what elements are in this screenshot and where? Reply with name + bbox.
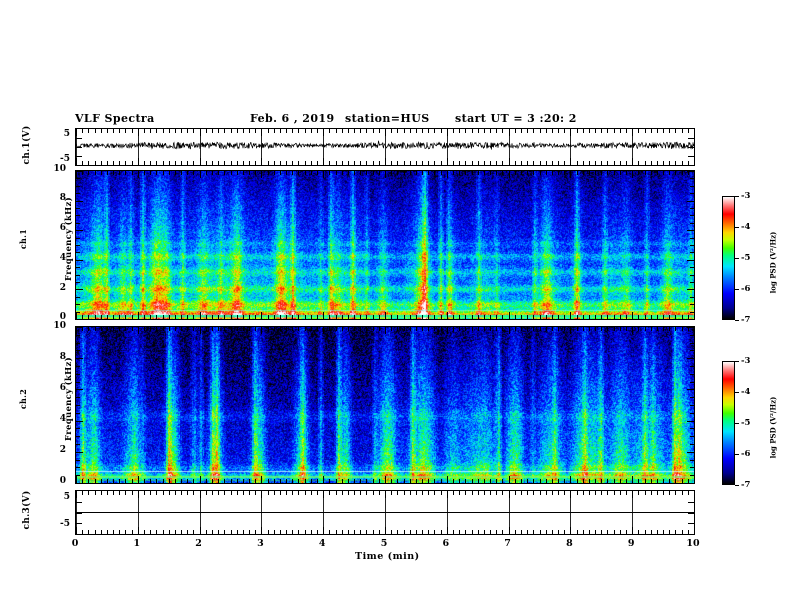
x-gridline — [200, 129, 201, 165]
x-tick — [107, 161, 108, 165]
y-tick — [687, 389, 694, 390]
x-tick — [237, 171, 238, 175]
x-tick — [348, 491, 349, 495]
x-tick — [323, 476, 324, 483]
x-tick — [268, 530, 269, 534]
x-tick — [583, 479, 584, 483]
x-gridline — [200, 491, 201, 534]
x-tick — [193, 530, 194, 534]
x-gridline — [570, 491, 571, 534]
x-tick — [552, 479, 553, 483]
x-tick — [354, 479, 355, 483]
x-tick — [607, 161, 608, 165]
ch3-waveform-ytick-neg5: -5 — [44, 519, 70, 529]
x-tick — [552, 315, 553, 319]
x-tick-label-7: 7 — [498, 538, 518, 549]
y-tick — [688, 147, 694, 148]
x-tick — [366, 315, 367, 319]
x-tick — [95, 129, 96, 133]
x-tick — [577, 327, 578, 331]
x-tick — [527, 171, 528, 175]
x-gridline — [447, 129, 448, 165]
x-tick — [620, 161, 621, 165]
x-tick — [138, 327, 139, 334]
x-tick — [589, 530, 590, 534]
x-tick — [311, 491, 312, 495]
x-tick — [527, 530, 528, 534]
x-gridline — [261, 129, 262, 165]
x-tick — [286, 479, 287, 483]
x-tick — [237, 530, 238, 534]
x-tick — [274, 161, 275, 165]
y-tick — [690, 245, 694, 246]
x-tick — [410, 327, 411, 331]
x-tick — [132, 171, 133, 175]
x-tick — [373, 530, 374, 534]
y-tick — [690, 460, 694, 461]
x-tick — [391, 161, 392, 165]
x-tick — [218, 171, 219, 175]
x-tick — [113, 171, 114, 175]
x-tick — [237, 129, 238, 133]
x-tick — [150, 315, 151, 319]
x-tick — [675, 491, 676, 495]
x-tick — [336, 530, 337, 534]
x-tick — [502, 129, 503, 133]
x-tick — [156, 171, 157, 175]
x-tick — [231, 171, 232, 175]
x-tick — [255, 530, 256, 534]
x-tick — [620, 315, 621, 319]
x-tick — [280, 171, 281, 175]
x-tick — [490, 479, 491, 483]
x-tick — [502, 530, 503, 534]
x-tick — [144, 161, 145, 165]
x-tick — [509, 312, 510, 319]
x-tick — [125, 479, 126, 483]
x-tick — [397, 129, 398, 133]
x-tick — [472, 479, 473, 483]
x-tick — [675, 129, 676, 133]
x-tick — [552, 530, 553, 534]
x-tick — [150, 161, 151, 165]
x-tick — [212, 479, 213, 483]
x-tick — [305, 491, 306, 495]
x-tick — [657, 479, 658, 483]
x-tick — [336, 129, 337, 133]
x-tick — [441, 491, 442, 495]
x-tick — [360, 315, 361, 319]
x-tick — [119, 491, 120, 495]
x-tick — [428, 129, 429, 133]
x-tick — [645, 491, 646, 495]
x-tick — [379, 171, 380, 175]
x-tick — [156, 315, 157, 319]
x-tick — [651, 315, 652, 319]
x-tick — [663, 171, 664, 175]
y-tick — [76, 178, 80, 179]
x-tick — [323, 312, 324, 319]
ch1-spec-ytick-10: 10 — [40, 164, 66, 174]
x-tick — [82, 129, 83, 133]
x-tick — [249, 315, 250, 319]
x-tick — [231, 315, 232, 319]
x-tick — [138, 171, 139, 178]
x-tick — [329, 530, 330, 534]
x-tick — [509, 171, 510, 178]
x-tick — [626, 479, 627, 483]
x-tick — [243, 315, 244, 319]
x-tick — [212, 315, 213, 319]
x-tick — [342, 327, 343, 331]
x-tick — [558, 327, 559, 331]
x-tick — [292, 161, 293, 165]
x-tick — [626, 327, 627, 331]
x-tick — [354, 491, 355, 495]
x-tick — [515, 129, 516, 133]
x-tick — [286, 171, 287, 175]
x-tick — [231, 530, 232, 534]
x-tick — [193, 129, 194, 133]
x-tick — [509, 327, 510, 334]
colorbar-ch1 — [722, 196, 735, 320]
x-tick — [638, 530, 639, 534]
x-tick — [496, 530, 497, 534]
x-tick — [268, 479, 269, 483]
x-tick — [187, 491, 188, 495]
x-tick — [95, 327, 96, 331]
x-tick — [360, 171, 361, 175]
x-tick — [459, 315, 460, 319]
x-tick — [478, 479, 479, 483]
x-tick — [577, 491, 578, 495]
x-tick — [156, 479, 157, 483]
x-tick — [298, 491, 299, 495]
ch3-waveform-ytick-5: 5 — [44, 492, 70, 502]
x-tick — [465, 129, 466, 133]
x-tick — [669, 315, 670, 319]
x-tick — [391, 315, 392, 319]
x-tick — [391, 129, 392, 133]
x-tick — [237, 479, 238, 483]
x-tick — [150, 129, 151, 133]
x-tick — [317, 479, 318, 483]
x-tick — [360, 129, 361, 133]
y-tick — [76, 405, 80, 406]
x-tick — [125, 315, 126, 319]
x-tick — [348, 161, 349, 165]
x-tick — [329, 479, 330, 483]
ch2-spectrogram-canvas — [76, 327, 694, 483]
x-tick — [533, 479, 534, 483]
x-tick — [163, 161, 164, 165]
x-tick — [360, 327, 361, 331]
x-tick — [82, 161, 83, 165]
x-tick — [119, 161, 120, 165]
x-tick — [373, 479, 374, 483]
x-tick — [472, 129, 473, 133]
x-tick — [342, 479, 343, 483]
x-tick — [163, 327, 164, 331]
x-tick — [540, 129, 541, 133]
y-tick — [76, 297, 80, 298]
x-tick — [434, 479, 435, 483]
colorbar-tick-label-neg4: -4 — [741, 222, 750, 232]
x-tick-label-4: 4 — [312, 538, 332, 549]
x-tick — [163, 491, 164, 495]
x-tick — [88, 327, 89, 331]
x-tick — [428, 479, 429, 483]
colorbar-tick — [735, 227, 739, 228]
x-tick — [527, 315, 528, 319]
x-tick — [546, 327, 547, 331]
x-tick — [595, 491, 596, 495]
x-tick — [564, 161, 565, 165]
x-tick — [552, 327, 553, 331]
x-tick — [521, 530, 522, 534]
colorbar-tick — [735, 423, 739, 424]
x-tick — [675, 327, 676, 331]
x-tick — [638, 161, 639, 165]
x-tick-label-8: 8 — [559, 538, 579, 549]
x-tick — [675, 315, 676, 319]
x-tick — [206, 491, 207, 495]
x-tick-label-2: 2 — [189, 538, 209, 549]
x-tick — [447, 476, 448, 483]
x-gridline — [447, 491, 448, 534]
x-tick — [144, 479, 145, 483]
x-tick-label-3: 3 — [250, 538, 270, 549]
x-tick — [274, 530, 275, 534]
ch1-spec-ytick-6: 6 — [40, 223, 66, 233]
y-tick — [76, 275, 80, 276]
x-tick — [150, 491, 151, 495]
x-tick — [298, 171, 299, 175]
x-tick — [132, 530, 133, 534]
x-tick — [583, 530, 584, 534]
x-tick — [163, 479, 164, 483]
y-tick — [76, 358, 83, 359]
colorbar-tick-label-neg7: -7 — [741, 480, 750, 490]
x-tick — [206, 530, 207, 534]
x-tick — [255, 491, 256, 495]
x-tick — [607, 530, 608, 534]
x-tick — [416, 327, 417, 331]
x-tick — [453, 491, 454, 495]
x-tick — [305, 315, 306, 319]
x-tick — [107, 171, 108, 175]
x-tick — [181, 327, 182, 331]
x-tick — [354, 530, 355, 534]
x-tick — [589, 479, 590, 483]
x-tick — [231, 479, 232, 483]
x-tick — [261, 171, 262, 178]
y-tick — [690, 467, 694, 468]
x-tick — [329, 129, 330, 133]
x-tick — [441, 530, 442, 534]
x-tick — [428, 171, 429, 175]
x-tick — [268, 161, 269, 165]
x-tick — [298, 479, 299, 483]
x-tick — [181, 530, 182, 534]
x-tick — [348, 315, 349, 319]
x-tick — [515, 171, 516, 175]
x-tick — [484, 327, 485, 331]
x-tick — [286, 530, 287, 534]
y-tick — [76, 238, 80, 239]
x-tick — [348, 129, 349, 133]
x-gridline — [138, 491, 139, 534]
x-tick — [119, 129, 120, 133]
x-tick — [144, 171, 145, 175]
y-tick — [690, 297, 694, 298]
x-tick — [397, 315, 398, 319]
x-tick — [397, 530, 398, 534]
colorbar-tick — [735, 258, 739, 259]
x-tick — [311, 171, 312, 175]
colorbar-ch1-label: log PSD (V²/Hz) — [769, 208, 778, 318]
x-tick — [298, 315, 299, 319]
x-tick — [416, 129, 417, 133]
x-tick — [317, 491, 318, 495]
x-tick — [521, 171, 522, 175]
x-tick — [163, 171, 164, 175]
x-tick — [546, 171, 547, 175]
x-tick — [193, 479, 194, 483]
x-tick — [620, 171, 621, 175]
x-tick — [255, 129, 256, 133]
y-tick — [76, 335, 80, 336]
x-tick — [280, 161, 281, 165]
x-tick — [175, 161, 176, 165]
x-tick — [305, 327, 306, 331]
x-tick — [533, 530, 534, 534]
x-tick — [286, 491, 287, 495]
y-tick — [76, 467, 80, 468]
x-tick — [434, 161, 435, 165]
x-tick — [404, 530, 405, 534]
x-tick — [76, 327, 77, 334]
ch1-waveform-axis-label: ch.1(V) — [22, 115, 32, 175]
x-tick — [682, 327, 683, 331]
y-tick — [690, 304, 694, 305]
x-tick-label-10: 10 — [683, 538, 703, 549]
x-tick — [243, 479, 244, 483]
x-tick — [688, 161, 689, 165]
colorbar-tick — [735, 454, 739, 455]
x-tick — [298, 161, 299, 165]
x-tick — [218, 479, 219, 483]
y-tick — [690, 335, 694, 336]
x-tick — [484, 171, 485, 175]
colorbar-tick — [735, 485, 739, 486]
y-tick — [690, 223, 694, 224]
x-tick — [595, 479, 596, 483]
y-tick — [76, 502, 82, 503]
x-tick — [125, 530, 126, 534]
x-tick — [410, 171, 411, 175]
colorbar-tick-label-neg7: -7 — [741, 315, 750, 325]
x-tick — [286, 129, 287, 133]
x-tick — [416, 315, 417, 319]
x-tick — [286, 161, 287, 165]
x-tick — [410, 530, 411, 534]
x-tick — [298, 327, 299, 331]
x-tick — [675, 171, 676, 175]
x-tick — [453, 479, 454, 483]
x-tick — [577, 171, 578, 175]
x-tick — [360, 479, 361, 483]
x-tick — [366, 171, 367, 175]
y-tick — [690, 238, 694, 239]
ch2-spectrogram-image — [76, 327, 694, 483]
ch2-spec-ytick-2: 2 — [40, 445, 66, 455]
x-tick — [663, 491, 664, 495]
x-tick-label-6: 6 — [436, 538, 456, 549]
x-gridline — [138, 129, 139, 165]
x-tick — [354, 315, 355, 319]
x-tick — [181, 491, 182, 495]
y-tick — [690, 193, 694, 194]
x-tick — [391, 171, 392, 175]
x-tick — [657, 129, 658, 133]
x-tick — [342, 315, 343, 319]
x-tick — [237, 315, 238, 319]
x-tick — [187, 129, 188, 133]
colorbar-tick — [735, 289, 739, 290]
x-tick — [292, 315, 293, 319]
x-tick — [268, 491, 269, 495]
x-tick — [200, 327, 201, 334]
y-tick — [76, 289, 83, 290]
y-tick — [76, 428, 80, 429]
x-tick — [280, 479, 281, 483]
x-tick — [311, 315, 312, 319]
x-tick — [607, 129, 608, 133]
x-tick — [675, 161, 676, 165]
x-tick — [156, 161, 157, 165]
x-tick — [311, 161, 312, 165]
x-tick — [249, 491, 250, 495]
x-tick — [95, 171, 96, 175]
x-tick — [527, 327, 528, 331]
x-tick — [428, 161, 429, 165]
x-tick — [459, 129, 460, 133]
x-tick — [527, 161, 528, 165]
y-tick — [76, 208, 80, 209]
x-tick — [187, 171, 188, 175]
x-tick — [632, 476, 633, 483]
y-tick — [76, 156, 82, 157]
colorbar-tick-label-neg3: -3 — [741, 191, 750, 201]
start-ut-label: start UT = 3 :20: 2 — [455, 112, 577, 125]
x-tick — [169, 327, 170, 331]
x-tick — [169, 171, 170, 175]
x-tick — [688, 530, 689, 534]
x-tick — [651, 491, 652, 495]
x-tick — [675, 479, 676, 483]
x-tick — [490, 129, 491, 133]
x-tick — [626, 171, 627, 175]
x-tick — [181, 479, 182, 483]
x-tick — [422, 479, 423, 483]
x-tick — [175, 327, 176, 331]
x-tick — [601, 327, 602, 331]
x-tick — [614, 327, 615, 331]
x-tick — [292, 129, 293, 133]
x-tick — [342, 171, 343, 175]
x-tick — [354, 161, 355, 165]
